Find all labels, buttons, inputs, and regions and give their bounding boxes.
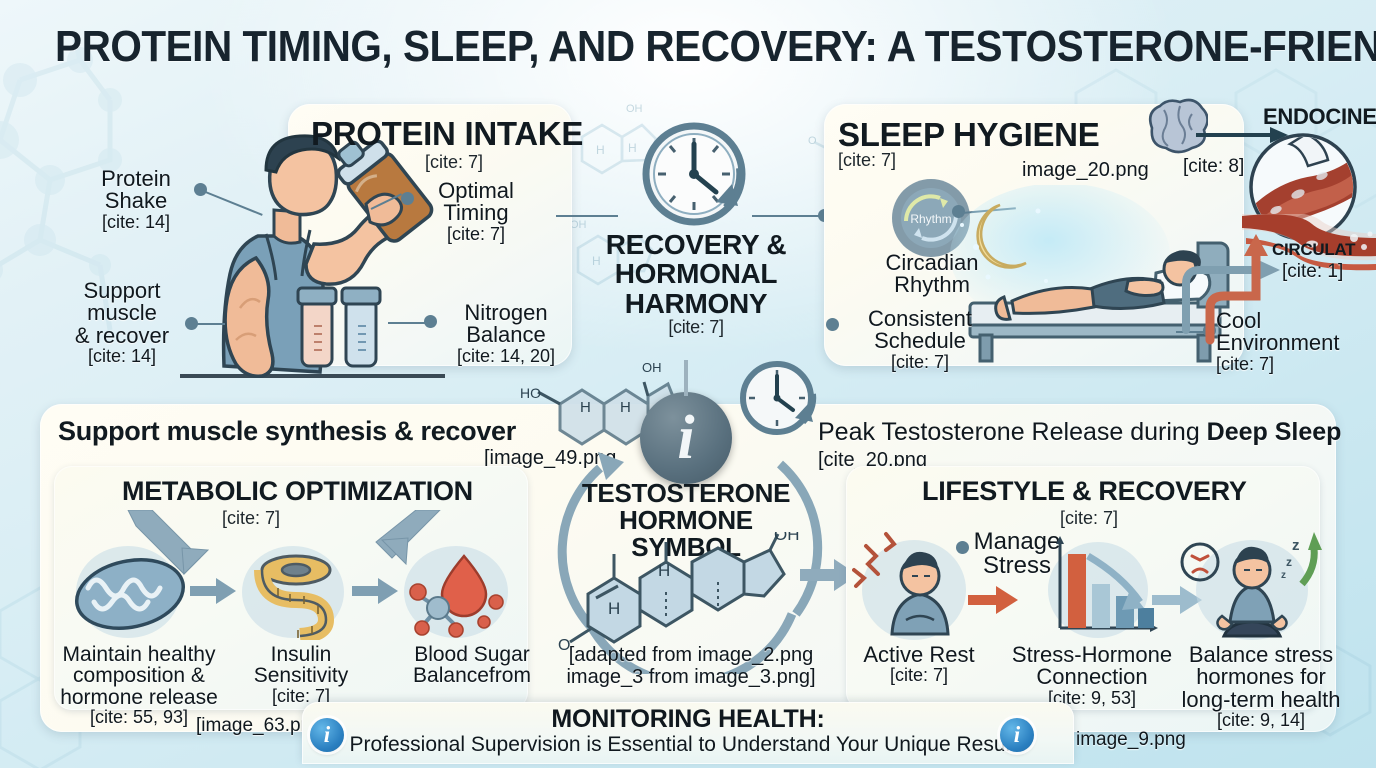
svg-text:H: H [658, 561, 670, 580]
svg-text:z: z [1292, 537, 1300, 554]
lifestyle-arrow-1 [968, 586, 1020, 614]
declining-bar-chart-icon [1042, 534, 1162, 644]
lifestyle-item-1-image-ref: image_9.png [1076, 730, 1186, 749]
metabolic-item-2-label: Blood Sugar Balancefrom [392, 644, 552, 687]
banner-info-icon-right[interactable]: i [1000, 718, 1034, 752]
recovery-clock-icon [632, 118, 762, 236]
lifestyle-item-1-label: Stress-Hormone Connection [cite: 9, 53] [1004, 644, 1180, 707]
lifestyle-heading: LIFESTYLE & RECOVERY [922, 476, 1247, 507]
metabolic-arrow-2 [352, 578, 400, 604]
support-muscle-line [195, 323, 225, 325]
svg-text:H: H [608, 599, 620, 618]
mitochondria-icon [72, 548, 188, 640]
banner-subtitle: Professional Supervision is Essential to… [302, 733, 1074, 757]
consistent-schedule-dot [826, 318, 839, 331]
support-muscle-label: Support muscle & recover [cite: 14] [56, 280, 188, 366]
sleep-hygiene-cite: [cite: 7] [838, 150, 896, 171]
meditating-person-icon: z z z [1180, 528, 1330, 644]
protein-shake-cite: [cite: 14] [76, 213, 196, 231]
test-tubes-icon [288, 282, 398, 374]
protein-intake-cite: [cite: 7] [425, 152, 483, 173]
svg-text:HO: HO [520, 385, 541, 401]
support-muscle-cite: [cite: 14] [56, 347, 188, 365]
circadian-rhythm-label: Circadian Rhythm [862, 252, 1002, 297]
lifestyle-item-0-label: Active Rest [cite: 7] [846, 644, 992, 685]
consistent-schedule-label: Consistent Schedule [cite: 7] [840, 308, 1000, 371]
consistent-schedule-cite: [cite: 7] [840, 353, 1000, 371]
svg-text:OH: OH [642, 360, 662, 375]
testosterone-caption: [adapted from image_2.png image_3 from i… [566, 644, 816, 688]
protein-to-center-connector [556, 215, 618, 217]
protein-shake-label: Protein Shake [cite: 14] [76, 168, 196, 231]
optimal-timing-dot [401, 192, 414, 205]
svg-text:H: H [580, 399, 591, 416]
measuring-tape-icon [244, 548, 346, 640]
svg-text:OH: OH [570, 219, 587, 231]
center-to-sleep-connector [752, 215, 824, 217]
svg-text:z: z [1281, 570, 1286, 581]
svg-text:H: H [620, 399, 631, 416]
lifestyle-cite: [cite: 7] [1060, 508, 1118, 529]
banner-info-icon-left[interactable]: i [310, 718, 344, 752]
page-title: PROTEIN TIMING, SLEEP, AND RECOVERY: A T… [55, 22, 1321, 72]
svg-text:O: O [808, 135, 817, 147]
optimal-timing-label: Optimal Timing [cite: 7] [416, 180, 536, 243]
recovery-heading: RECOVERY & HORMONAL HARMONY [cite: 7] [588, 230, 804, 337]
protein-intake-heading: PROTEIN INTAKE [311, 115, 583, 153]
svg-text:OH: OH [774, 532, 800, 544]
peak-testosterone-text: Peak Testosterone Release during Deep Sl… [818, 420, 1341, 446]
endocrine-cite: [cite: 8] [1183, 157, 1244, 176]
protein-shake-dot [194, 183, 207, 196]
lifestyle-item-2-cite: [cite: 9, 14] [1178, 711, 1344, 729]
metabolic-heading: METABOLIC OPTIMIZATION [122, 476, 473, 507]
banner-title: MONITORING HEALTH: [302, 705, 1074, 734]
svg-text:H: H [596, 143, 605, 157]
cool-environment-cite: [cite: 7] [1216, 355, 1376, 373]
sleep-hygiene-heading: SLEEP HYGIENE [838, 116, 1099, 154]
metabolic-item-1-label: Insulin Sensitivity [cite: 7] [226, 644, 376, 705]
lifestyle-item-2-label: Balance stress hormones for long-term he… [1178, 644, 1344, 730]
svg-text:OH: OH [626, 103, 643, 115]
nitrogen-balance-line [388, 322, 426, 324]
deep-sleep-bold: Deep Sleep [1207, 418, 1342, 446]
svg-text:z: z [1286, 555, 1292, 569]
recovery-cite: [cite: 7] [588, 318, 804, 337]
sleep-to-organs-arrows [1150, 180, 1310, 350]
monitoring-health-banner: MONITORING HEALTH: Professional Supervis… [302, 702, 1074, 764]
info-icon-stem [684, 360, 688, 396]
lifestyle-item-0-cite: [cite: 7] [846, 666, 992, 684]
optimal-timing-cite: [cite: 7] [416, 225, 536, 243]
sleep-image-ref: image_20.png [1022, 160, 1149, 180]
blood-drop-icon [404, 546, 512, 640]
page-title-wrapper: PROTEIN TIMING, SLEEP, AND RECOVERY: A T… [0, 22, 1376, 72]
metabolic-arrow-1 [190, 578, 238, 604]
testosterone-molecule-icon: O OH H H [556, 532, 816, 662]
support-synthesis-headline: Support muscle synthesis & recover [58, 416, 516, 447]
